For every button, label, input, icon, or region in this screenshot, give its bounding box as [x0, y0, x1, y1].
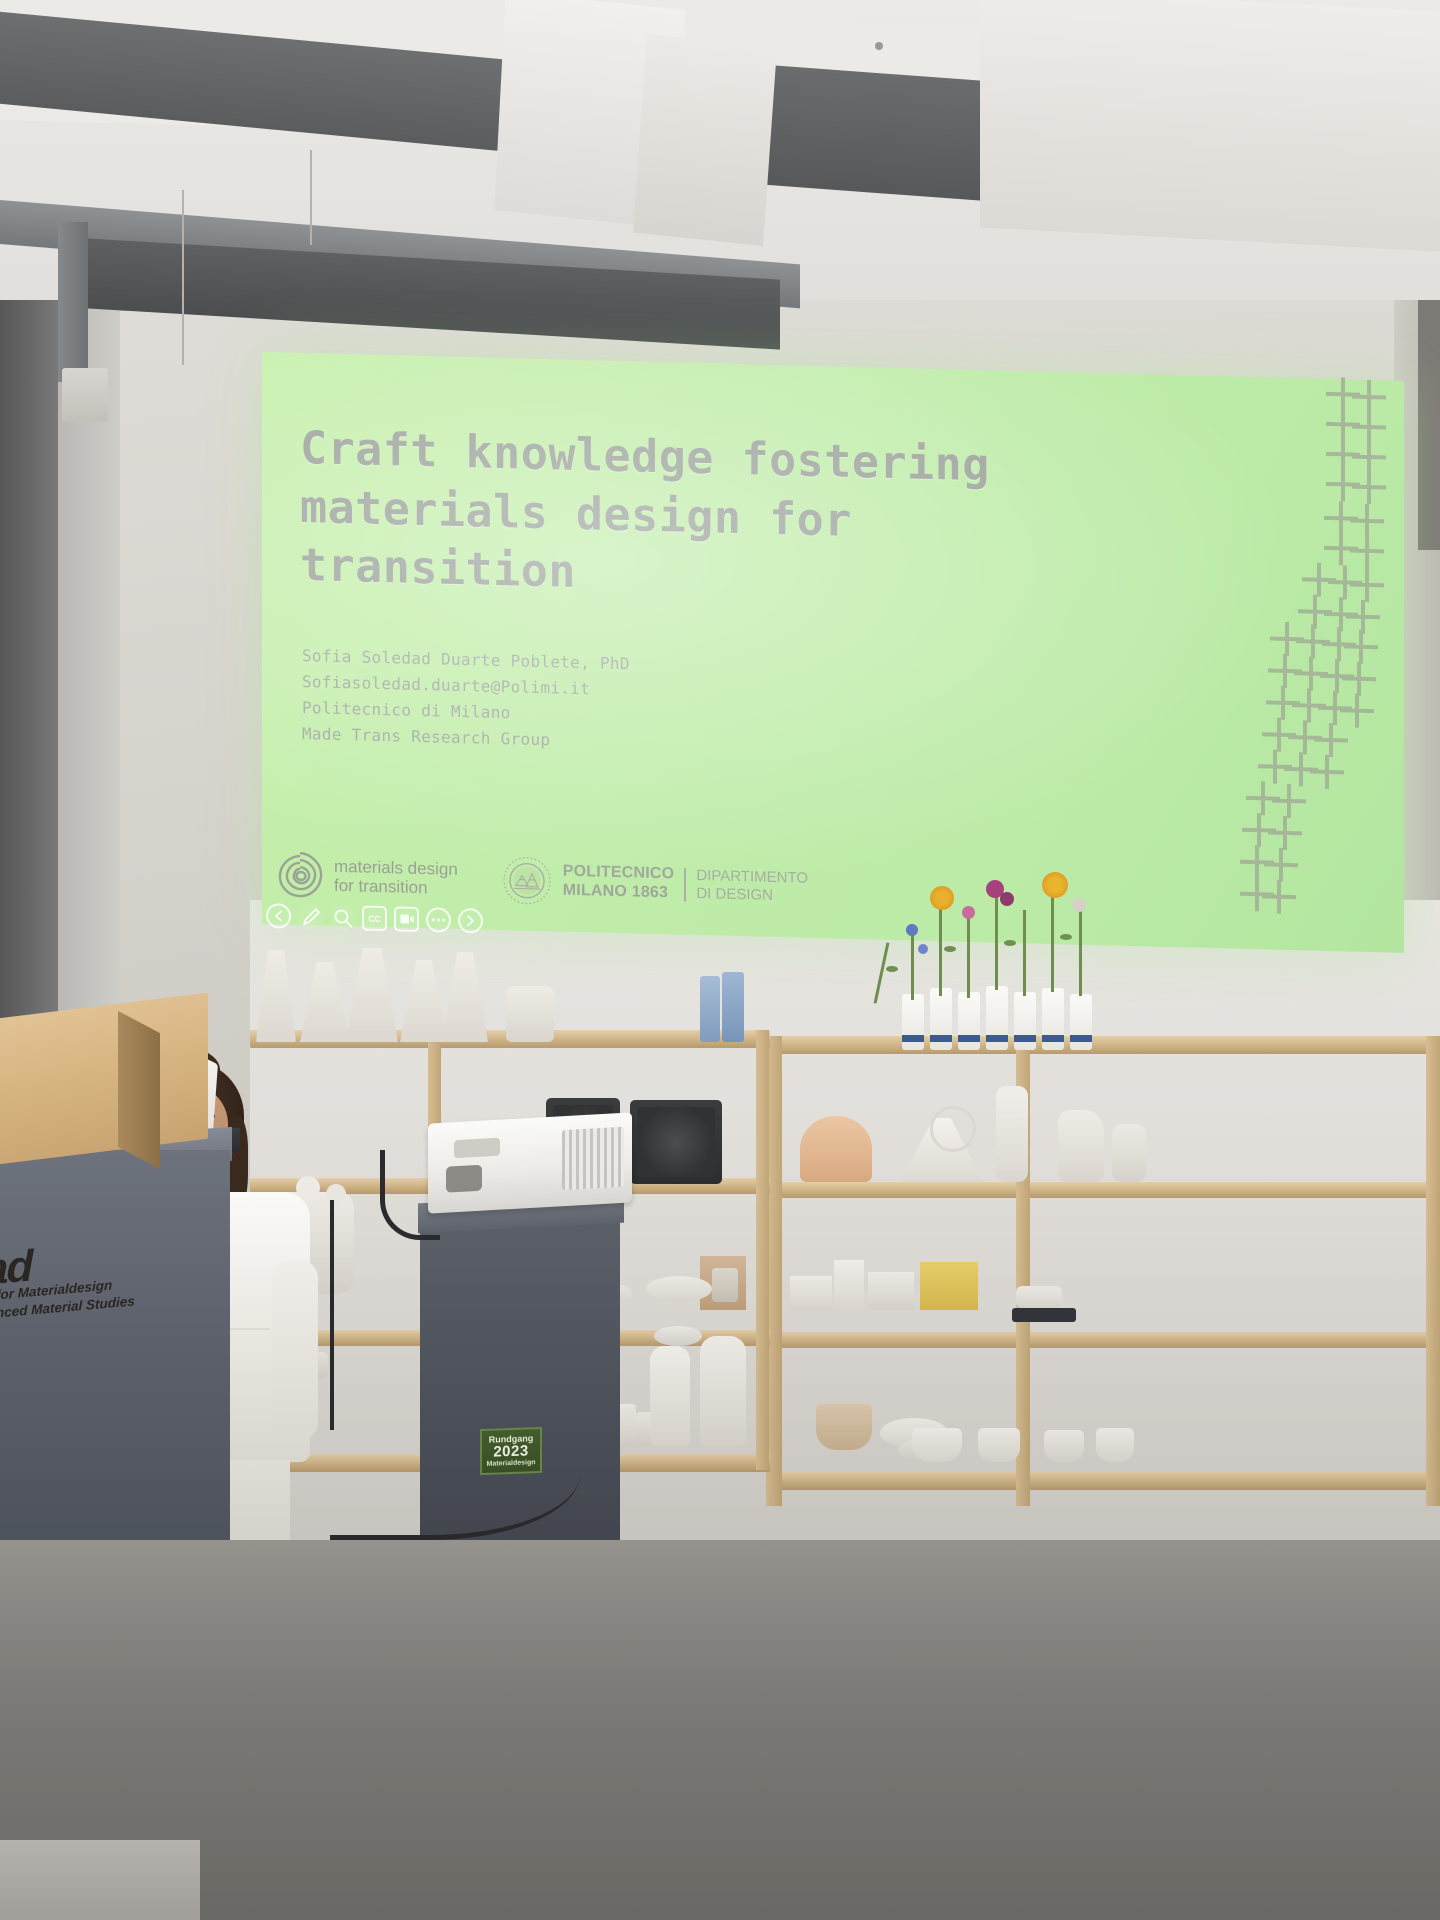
camera-button[interactable]	[394, 906, 419, 932]
blue-bloom	[918, 944, 928, 954]
ceramic-cup	[1044, 1430, 1084, 1462]
podium-logo-text: ad for Materialdesign nced Material Stud…	[0, 1239, 146, 1322]
projector-lens	[446, 1165, 482, 1193]
podium-wood-edge	[118, 1011, 160, 1169]
ceramic-cup	[912, 1428, 962, 1462]
ceramic-plate	[654, 1326, 702, 1346]
projected-slide: Craft knowledge fostering materials desi…	[262, 352, 1404, 953]
slide-cross-pattern-decoration	[1240, 371, 1390, 935]
flower-vase	[986, 986, 1008, 1050]
flower-vase	[1042, 988, 1064, 1050]
floor-light-patch	[0, 1840, 200, 1920]
more-options-button[interactable]	[426, 907, 451, 933]
department-line-2: DI DESIGN	[696, 885, 808, 906]
hanging-wire-2	[310, 150, 312, 245]
flower-vase	[958, 992, 980, 1050]
materials-design-logo-text: materials design for transition	[334, 857, 458, 898]
figurine-statue	[650, 1346, 690, 1446]
small-vessel	[712, 1268, 738, 1302]
podium-wood-panel	[0, 993, 208, 1166]
pink-bloom	[1000, 892, 1014, 906]
window-curtain	[0, 250, 58, 1070]
politecnico-department: DIPARTIMENTO DI DESIGN	[696, 867, 808, 906]
materials-design-logo: materials design for transition	[276, 850, 458, 903]
ceramic-dish	[1016, 1286, 1062, 1308]
wall-right-recess	[1418, 300, 1440, 550]
ceramic-bowl	[816, 1404, 872, 1450]
ceramic-sculpture	[1058, 1110, 1104, 1182]
sunflower-bloom	[930, 886, 954, 910]
shelf-unit-right	[766, 1036, 1440, 1596]
figurine-statue	[700, 1336, 746, 1446]
next-slide-button[interactable]	[458, 908, 483, 934]
polimi-seal-icon	[502, 855, 552, 906]
spiral-contour-icon	[276, 850, 324, 899]
audio-speaker	[630, 1100, 722, 1184]
politecnico-logo: POLITECNICO MILANO 1863 DIPARTIMENTO DI …	[502, 855, 808, 913]
shelf-board	[766, 1472, 1440, 1490]
materials-design-line-2: for transition	[334, 876, 458, 898]
logo-divider	[684, 868, 686, 902]
captions-button[interactable]: CC	[362, 906, 387, 932]
shelf-post	[1426, 1036, 1440, 1506]
captions-label: CC	[368, 913, 380, 923]
white-bloom	[1072, 898, 1086, 912]
shelf-board	[766, 1332, 1440, 1348]
yellow-block-model	[920, 1262, 978, 1310]
floor	[0, 1540, 1440, 1920]
slide-author-block: Sofia Soledad Duarte Poblete, PhD Sofias…	[302, 643, 630, 756]
shelf-post	[756, 1030, 769, 1470]
white-ring-object	[930, 1106, 976, 1152]
projector-focus-knob	[454, 1138, 500, 1159]
shelf-board	[766, 1036, 1440, 1054]
flower-vase	[902, 994, 924, 1050]
white-block	[790, 1276, 832, 1310]
ceramic-plate	[646, 1276, 712, 1302]
zoom-slide-button[interactable]	[330, 905, 355, 931]
white-block	[834, 1260, 864, 1310]
ceramic-cup	[1096, 1428, 1134, 1462]
shelf-board	[766, 1182, 1440, 1198]
politecnico-name: POLITECNICO MILANO 1863	[563, 863, 675, 904]
projector	[428, 1112, 632, 1213]
sunflower-bloom	[1042, 872, 1068, 898]
politecnico-line-2: MILANO 1863	[563, 882, 668, 902]
flower-vase	[930, 988, 952, 1050]
blue-glass-vase	[700, 976, 720, 1042]
terracotta-bell-object	[800, 1116, 872, 1182]
annotate-pen-button[interactable]	[298, 904, 323, 930]
white-block	[868, 1272, 914, 1310]
podium-base	[0, 1150, 230, 1580]
pink-bloom	[962, 906, 975, 919]
ceiling-fixture-dot	[875, 42, 883, 50]
structural-beam-vertical	[58, 222, 88, 382]
blue-bloom	[906, 924, 918, 936]
politecnico-line-1: POLITECNICO	[563, 863, 675, 883]
slide-title: Craft knowledge fostering materials desi…	[300, 419, 1090, 614]
ceramic-pot	[506, 986, 554, 1042]
blue-glass-vase	[722, 972, 744, 1042]
flower-vase	[1014, 992, 1036, 1050]
previous-slide-button[interactable]	[266, 903, 291, 929]
projector-vents	[562, 1127, 624, 1190]
wall-speaker	[62, 368, 108, 422]
ceramic-sculpture	[1112, 1124, 1146, 1182]
flower-vase	[1070, 994, 1092, 1050]
photo-scene: Craft knowledge fostering materials desi…	[0, 0, 1440, 1920]
presenter-shirt-pocket	[224, 1296, 270, 1330]
ceiling-beam-white-2	[633, 34, 777, 246]
ceiling-slab-right	[980, 0, 1440, 253]
dark-base-plate	[1012, 1308, 1076, 1322]
ceramic-cup	[978, 1428, 1020, 1462]
presenter-arm-right	[272, 1260, 318, 1440]
hanging-wire-1	[182, 190, 184, 365]
stacked-ceramic-sculpture	[996, 1086, 1028, 1182]
